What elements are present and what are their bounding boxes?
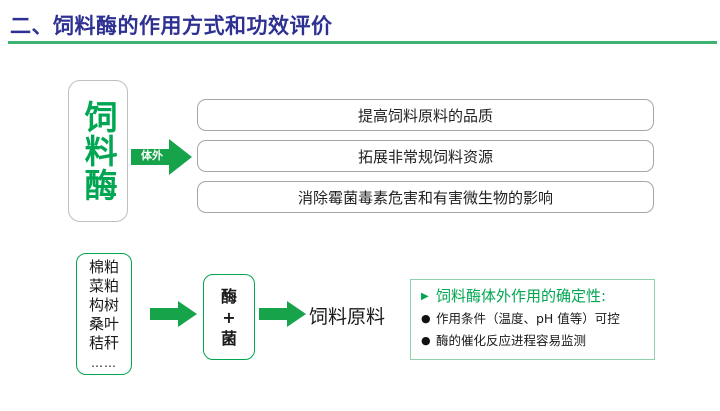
outcome-box-3: 消除霉菌毒素危害和有害微生物的影响 xyxy=(197,181,654,213)
note-item-label-1: 作用条件（温度、pH 值等）可控 xyxy=(436,309,620,328)
material-item-4: 桑叶 xyxy=(89,315,119,334)
slide-canvas: 二、饲料酶的作用方式和功效评价 饲料酶 体外 提高饲料原料的品质 拓展非常规饲料… xyxy=(0,0,720,411)
material-item-more: …… xyxy=(91,353,117,373)
dot-bullet-icon: ● xyxy=(421,331,436,350)
flow-arrow-2 xyxy=(259,301,307,327)
note-item-row-2: ● 酶的催化反应进程容易监测 xyxy=(421,331,646,350)
process-line-2: + xyxy=(222,307,235,328)
materials-box: 棉粕 菜粕 构树 桑叶 秸秆 …… xyxy=(76,253,132,375)
labeled-arrow-text: 体外 xyxy=(135,149,169,163)
arrow-right-icon xyxy=(259,301,307,327)
material-item-1: 棉粕 xyxy=(89,258,119,277)
note-item-row-1: ● 作用条件（温度、pH 值等）可控 xyxy=(421,309,646,328)
material-item-2: 菜粕 xyxy=(89,277,119,296)
material-item-3: 构树 xyxy=(89,296,119,315)
process-line-1: 酶 xyxy=(221,286,237,307)
note-heading-label: 饲料酶体外作用的确定性: xyxy=(436,287,606,306)
source-box-feed-enzyme: 饲料酶 xyxy=(68,80,128,222)
result-label: 饲料原料 xyxy=(309,302,385,329)
note-item-label-2: 酶的催化反应进程容易监测 xyxy=(436,331,586,350)
material-item-5: 秸秆 xyxy=(89,334,119,353)
title-underline xyxy=(8,41,717,44)
outcome-box-2-label: 拓展非常规饲料资源 xyxy=(358,146,493,167)
outcome-box-1-label: 提高饲料原料的品质 xyxy=(358,105,493,126)
triangle-bullet-icon: ▶ xyxy=(421,287,436,306)
process-line-3: 菌 xyxy=(221,328,237,349)
outcome-box-3-label: 消除霉菌毒素危害和有害微生物的影响 xyxy=(298,187,553,208)
outcome-box-2: 拓展非常规饲料资源 xyxy=(197,140,654,172)
labeled-arrow-in-vitro: 体外 xyxy=(131,137,193,177)
outcome-box-1: 提高饲料原料的品质 xyxy=(197,99,654,131)
dot-bullet-icon: ● xyxy=(421,309,436,328)
arrow-right-icon xyxy=(150,301,198,327)
process-box-enzyme-microbe: 酶 + 菌 xyxy=(203,274,255,360)
note-box: ▶ 饲料酶体外作用的确定性: ● 作用条件（温度、pH 值等）可控 ● 酶的催化… xyxy=(410,279,655,360)
page-title: 二、饲料酶的作用方式和功效评价 xyxy=(10,10,333,40)
note-heading-row: ▶ 饲料酶体外作用的确定性: xyxy=(421,287,646,306)
source-box-label: 饲料酶 xyxy=(79,100,117,202)
flow-arrow-1 xyxy=(150,301,198,327)
